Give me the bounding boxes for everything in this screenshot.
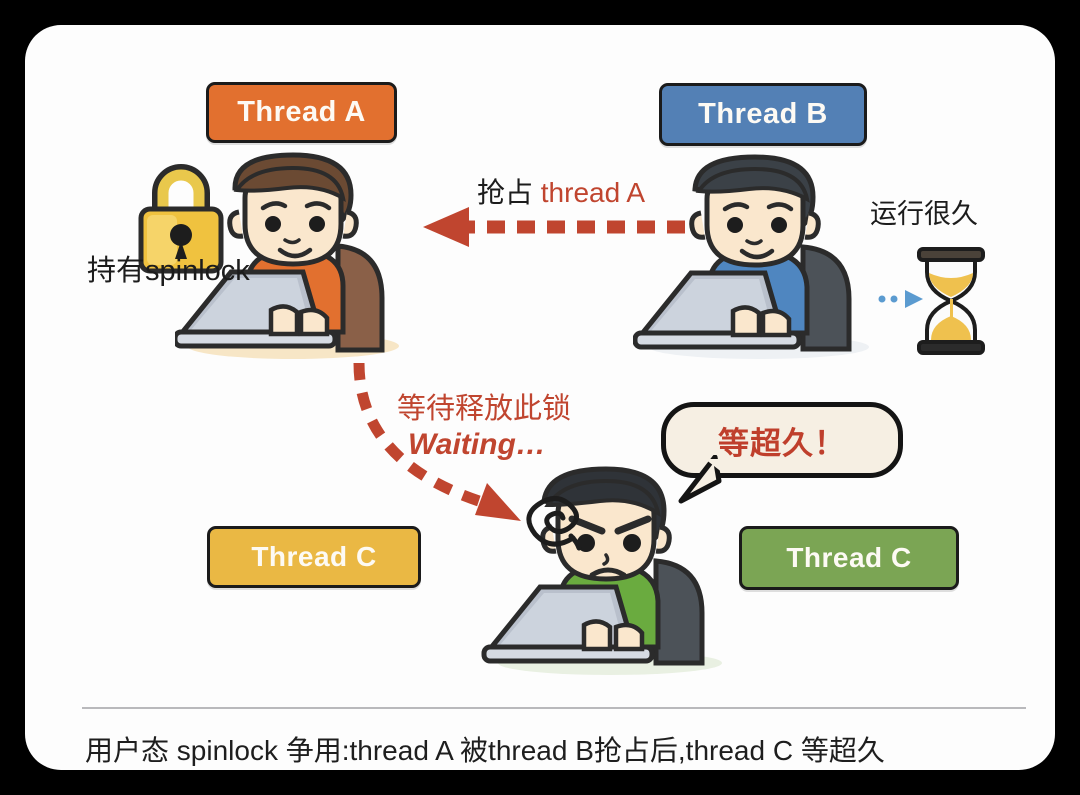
speech-bubble-tail-icon bbox=[675, 455, 735, 507]
waiting-label-en: Waiting… bbox=[408, 428, 546, 462]
thread-c-right-tag-label: Thread C bbox=[786, 542, 911, 574]
person-thread-b bbox=[633, 153, 891, 365]
thread-c-right-tag[interactable]: Thread C bbox=[739, 526, 959, 590]
thread-b-tag[interactable]: Thread B bbox=[659, 83, 867, 146]
hold-spinlock-label: 持有spinlock bbox=[87, 247, 250, 289]
preempt-label-cn: 抢占 bbox=[477, 177, 541, 208]
speech-bubble-text: 等超久！ bbox=[718, 418, 846, 463]
illustration-card: Thread A Thread B Thread C Thread C 持有sp… bbox=[25, 25, 1055, 770]
waiting-label-cn: 等待释放此锁 bbox=[397, 385, 571, 427]
screenshot-stage: Thread A Thread B Thread C Thread C 持有sp… bbox=[0, 0, 1080, 795]
thread-a-tag[interactable]: Thread A bbox=[206, 82, 397, 143]
preempt-label-en: thread A bbox=[541, 177, 645, 208]
thread-b-tag-label: Thread B bbox=[698, 98, 828, 131]
caption-text: 用户态 spinlock 争用:thread A 被thread B抢占后,th… bbox=[85, 729, 885, 769]
run-long-label: 运行很久 bbox=[870, 192, 978, 231]
blue-dotted-arrow-icon bbox=[878, 287, 928, 311]
dashed-left-arrow-icon bbox=[413, 205, 693, 249]
preempt-label: 抢占 thread A bbox=[477, 171, 645, 211]
thread-c-left-tag[interactable]: Thread C bbox=[207, 526, 421, 588]
caption-divider bbox=[82, 707, 1026, 709]
thread-a-tag-label: Thread A bbox=[237, 96, 366, 129]
thread-c-left-tag-label: Thread C bbox=[251, 541, 376, 573]
